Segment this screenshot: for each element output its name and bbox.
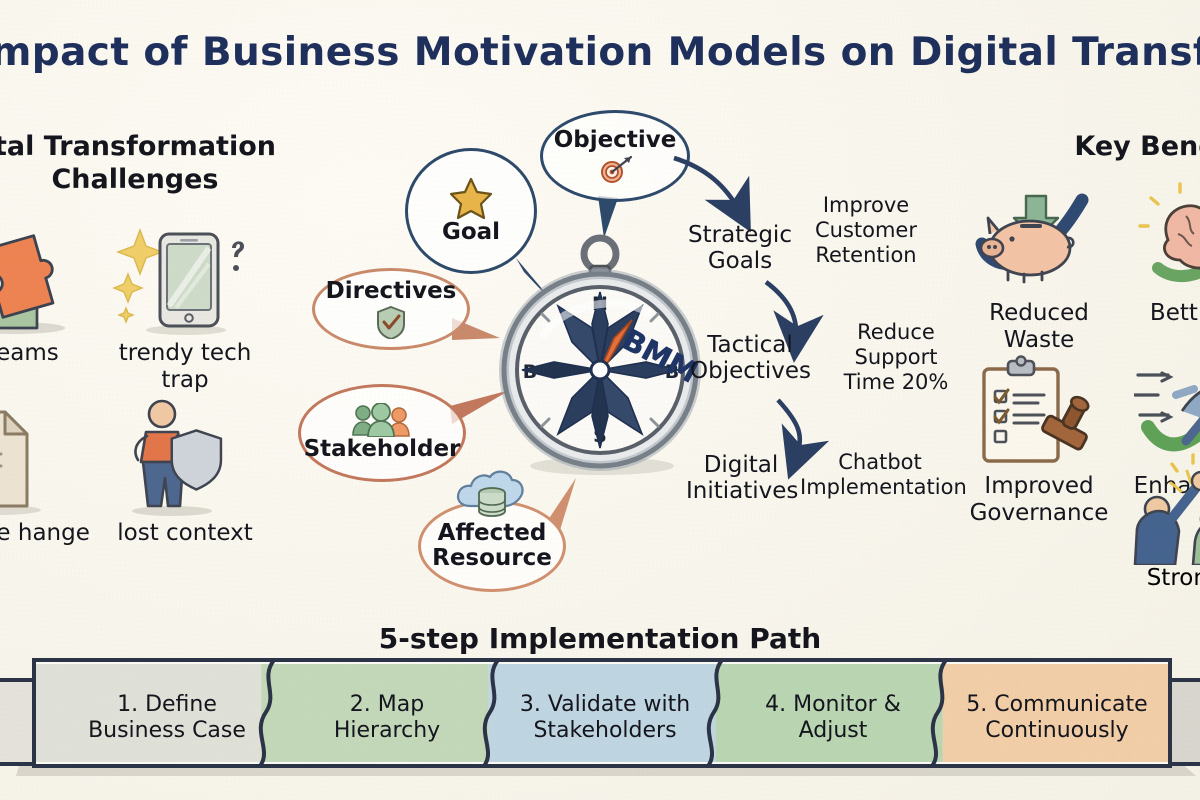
infographic-poster: e Impact of Business Motivation Models o… — [0, 0, 1200, 800]
step-label[interactable]: 3. Validate with Stakeholders — [500, 692, 710, 745]
step-label[interactable]: 1. Define Business Case — [62, 692, 272, 745]
cascade-example-retention: Improve Customer Retention — [806, 193, 926, 267]
cascade-example-chatbot: Chatbot Implementation — [800, 450, 960, 500]
cascade-node-tactical-objectives: Tactical Objectives — [690, 332, 810, 384]
cascade-node-strategic-goals: Strategic Goals — [686, 222, 794, 274]
cascade-node-digital-initiatives: Digital Initiatives — [686, 452, 796, 504]
cascade-example-support-time: Reduce Support Time 20% — [838, 320, 954, 394]
step-label[interactable]: 2. Map Hierarchy — [282, 692, 492, 745]
step-label[interactable]: 5. Communicate Continuously — [952, 692, 1162, 745]
implementation-path-title: 5-step Implementation Path — [0, 622, 1200, 655]
step-label[interactable]: 4. Monitor & Adjust — [728, 692, 938, 745]
